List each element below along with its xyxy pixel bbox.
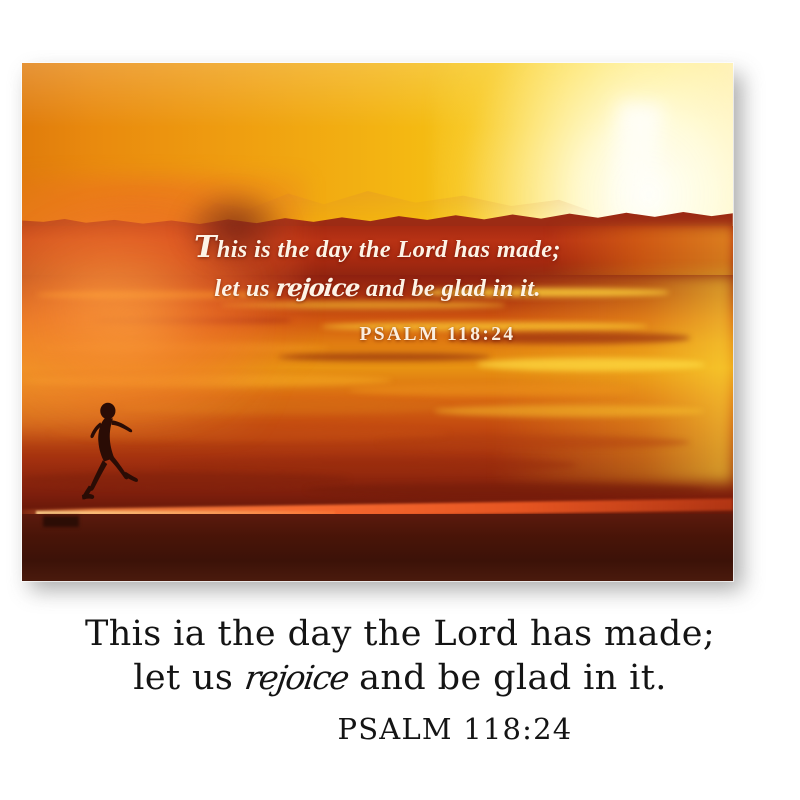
foreground-dark-notch (43, 516, 79, 527)
steam-dark-patch (178, 187, 292, 270)
caption-line-2-before: let us (133, 658, 245, 698)
caption-block: This ia the day the Lord has made; let u… (0, 612, 800, 746)
caption-line-1: This ia the day the Lord has made; (0, 612, 800, 656)
running-child-silhouette (69, 397, 154, 511)
page-canvas: This is the day the Lord has made; let u… (0, 0, 800, 800)
caption-rejoice-script: rejoice (242, 656, 351, 700)
caption-reference: PSALM 118:24 (110, 712, 800, 746)
caption-line-2: let us rejoice and be glad in it. (0, 656, 800, 700)
caption-line-2-after: and be glad in it. (348, 658, 667, 698)
sunset-hot-spring-photo: This is the day the Lord has made; let u… (22, 63, 733, 581)
dark-foreground-band (22, 514, 733, 581)
